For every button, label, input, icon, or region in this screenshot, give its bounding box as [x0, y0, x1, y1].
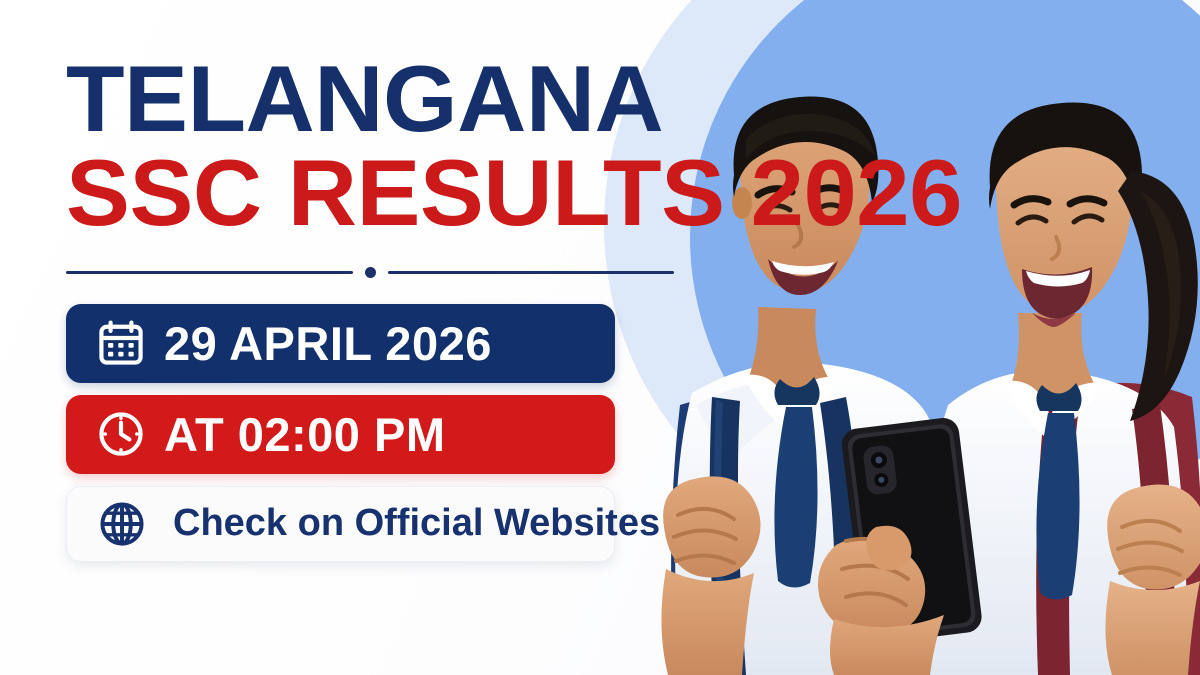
result-time-badge[interactable]: AT 02:00 PM [66, 395, 615, 474]
official-websites-label: Check on Official Websites [173, 502, 660, 545]
results-announcement-poster: TELANGANA SSC RESULTS 2026 [0, 0, 1200, 675]
result-date-badge[interactable]: 29 APRIL 2026 [66, 304, 615, 383]
globe-icon [95, 497, 149, 551]
headline-line-2: SSC RESULTS 2026 [66, 150, 692, 236]
headline-line-1: TELANGANA [66, 56, 692, 142]
info-badges: 29 APRIL 2026 AT 02:00 PM [66, 304, 680, 562]
divider-dot [365, 267, 376, 278]
divider-rule-right [388, 271, 675, 274]
clock-icon [94, 407, 148, 461]
calendar-icon [94, 316, 148, 370]
official-websites-button[interactable]: Check on Official Websites [66, 486, 615, 562]
headline-divider [66, 267, 674, 278]
divider-rule-left [66, 271, 353, 274]
poster-headline: TELANGANA SSC RESULTS 2026 [66, 56, 680, 237]
poster-content: TELANGANA SSC RESULTS 2026 [0, 0, 680, 675]
result-date-label: 29 APRIL 2026 [164, 316, 492, 371]
result-time-label: AT 02:00 PM [164, 407, 446, 462]
